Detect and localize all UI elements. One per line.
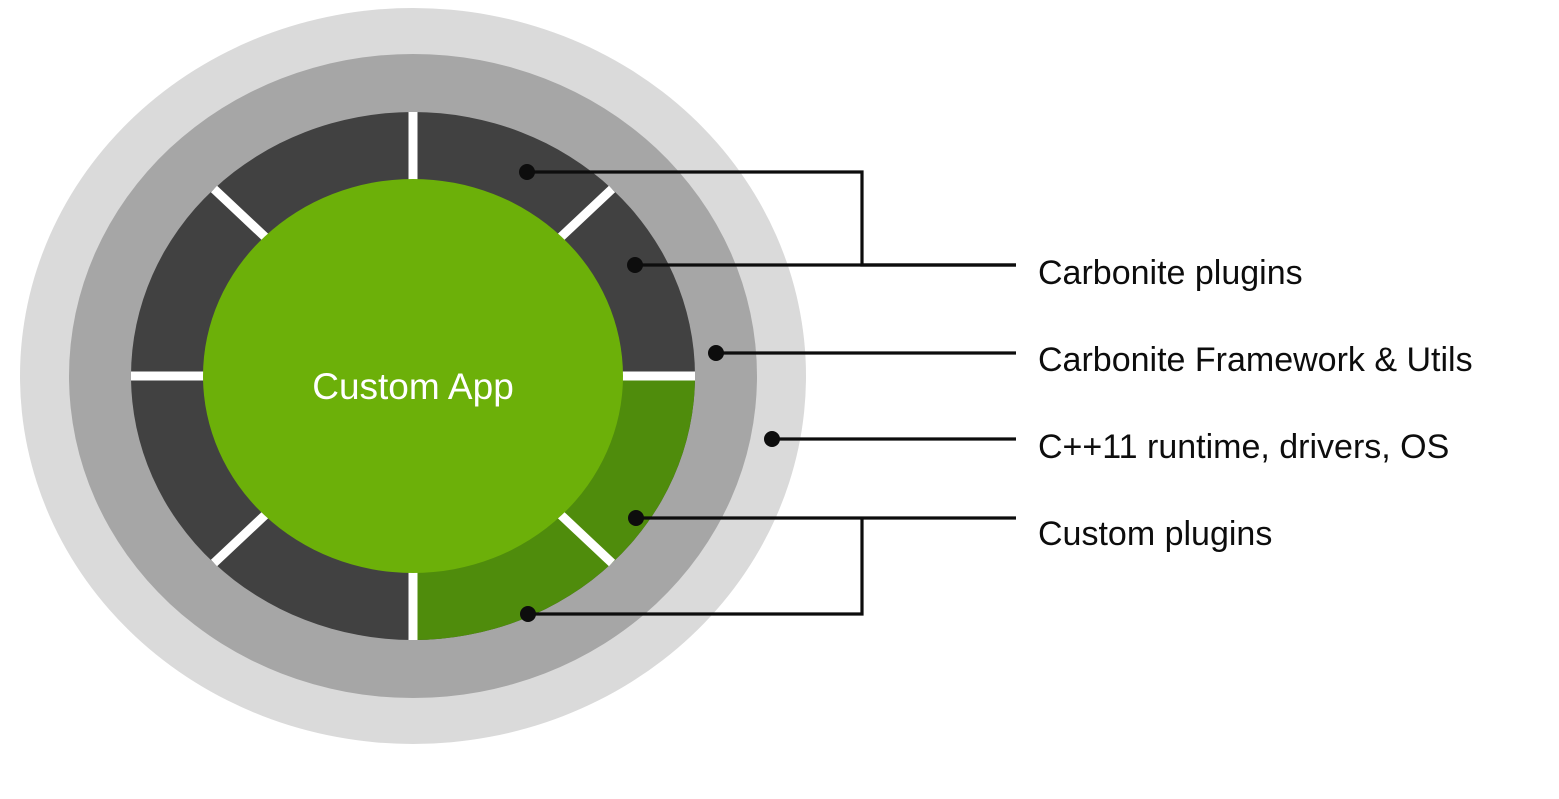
leader-dot-cpp-runtime (764, 431, 780, 447)
legend-label-cpp-runtime: C++11 runtime, drivers, OS (1038, 428, 1449, 466)
leader-dot-custom-plugins-a (628, 510, 644, 526)
leader-dot-carbonite-plugins-a (519, 164, 535, 180)
concentric-ring-diagram: Custom App Carbonite plugins (0, 0, 1559, 799)
center-label-custom-app: Custom App (312, 366, 514, 407)
legend-labels: Carbonite plugins Carbonite Framework & … (1038, 254, 1473, 553)
diagram-canvas: Custom App Carbonite plugins (0, 0, 1559, 799)
legend-label-carbonite-plugins: Carbonite plugins (1038, 254, 1303, 292)
leader-dot-custom-plugins-b (520, 606, 536, 622)
leader-dot-carbonite-plugins-b (627, 257, 643, 273)
legend-label-custom-plugins: Custom plugins (1038, 515, 1272, 553)
leader-dot-carbonite-framework (708, 345, 724, 361)
legend-label-carbonite-framework: Carbonite Framework & Utils (1038, 341, 1473, 379)
